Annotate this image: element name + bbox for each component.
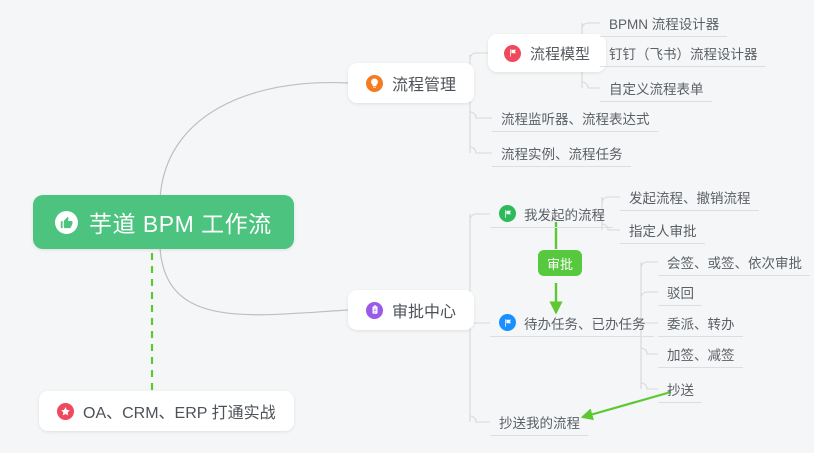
leaf-custom-form[interactable]: 自定义流程表单 <box>600 74 712 102</box>
flag-icon <box>499 314 516 331</box>
leaf-process-instance[interactable]: 流程实例、流程任务 <box>492 139 631 167</box>
branch-root-to-process-management <box>160 83 348 199</box>
leaf-cc-my-process-label: 抄送我的流程 <box>499 412 580 432</box>
node-todo-done-task-label: 待办任务、已办任务 <box>524 313 646 333</box>
leaf-cc-label: 抄送 <box>667 379 694 399</box>
leaf-dingtalk-designer[interactable]: 钉钉（飞书）流程设计器 <box>600 39 766 67</box>
node-my-started-process[interactable]: 我发起的流程 <box>490 200 613 228</box>
node-approval-center-label: 审批中心 <box>392 298 456 322</box>
leaf-bpmn-designer-label: BPMN 流程设计器 <box>609 13 719 33</box>
root-label: 芋道 BPM 工作流 <box>89 205 272 239</box>
node-process-model-label: 流程模型 <box>530 43 590 64</box>
leaf-add-remove-sign[interactable]: 加签、减签 <box>658 340 743 368</box>
leaf-countersign[interactable]: 会签、或签、依次审批 <box>658 248 810 276</box>
branch-root-to-approval-center <box>160 247 348 315</box>
node-process-management-label: 流程管理 <box>392 71 456 95</box>
bottom-card-label: OA、CRM、ERP 打通实战 <box>83 399 276 423</box>
leaf-reject-label: 驳回 <box>667 282 694 302</box>
leaf-process-instance-label: 流程实例、流程任务 <box>501 143 623 163</box>
leaf-reject[interactable]: 驳回 <box>658 278 702 306</box>
leaf-assignee-approval-label: 指定人审批 <box>629 220 697 240</box>
node-todo-done-task[interactable]: 待办任务、已办任务 <box>490 309 654 337</box>
leaf-cc[interactable]: 抄送 <box>658 375 702 403</box>
connector-tag-label: 审批 <box>547 254 573 273</box>
bottom-card-node[interactable]: OA、CRM、ERP 打通实战 <box>39 391 294 431</box>
root-node[interactable]: 芋道 BPM 工作流 <box>33 195 294 249</box>
lightbulb-icon <box>366 75 383 92</box>
connector-tag-approval: 审批 <box>538 250 582 276</box>
clipboard-icon <box>366 302 383 319</box>
leaf-start-cancel-process[interactable]: 发起流程、撤销流程 <box>620 183 759 211</box>
leaf-delegate-transfer-label: 委派、转办 <box>667 313 735 333</box>
leaf-countersign-label: 会签、或签、依次审批 <box>667 252 802 272</box>
leaf-process-listener[interactable]: 流程监听器、流程表达式 <box>492 104 658 132</box>
leaf-delegate-transfer[interactable]: 委派、转办 <box>658 309 743 337</box>
leaf-start-cancel-process-label: 发起流程、撤销流程 <box>629 187 751 207</box>
thumbs-up-icon <box>55 211 78 234</box>
leaf-process-listener-label: 流程监听器、流程表达式 <box>501 108 650 128</box>
node-process-management[interactable]: 流程管理 <box>348 63 474 103</box>
mindmap-canvas: 芋道 BPM 工作流 流程管理 流程模型 BPMN 流程设计器 钉钉（飞书）流程… <box>0 0 814 453</box>
leaf-custom-form-label: 自定义流程表单 <box>609 78 704 98</box>
star-icon <box>57 403 74 420</box>
leaf-add-remove-sign-label: 加签、减签 <box>667 344 735 364</box>
leaf-cc-my-process[interactable]: 抄送我的流程 <box>490 408 588 436</box>
node-approval-center[interactable]: 审批中心 <box>348 290 474 330</box>
leaf-assignee-approval[interactable]: 指定人审批 <box>620 216 705 244</box>
flag-icon <box>504 45 521 62</box>
leaf-dingtalk-designer-label: 钉钉（飞书）流程设计器 <box>609 43 758 63</box>
node-process-model[interactable]: 流程模型 <box>488 34 606 72</box>
node-my-started-process-label: 我发起的流程 <box>524 204 605 224</box>
leaf-bpmn-designer[interactable]: BPMN 流程设计器 <box>600 9 727 37</box>
flag-icon <box>499 205 516 222</box>
